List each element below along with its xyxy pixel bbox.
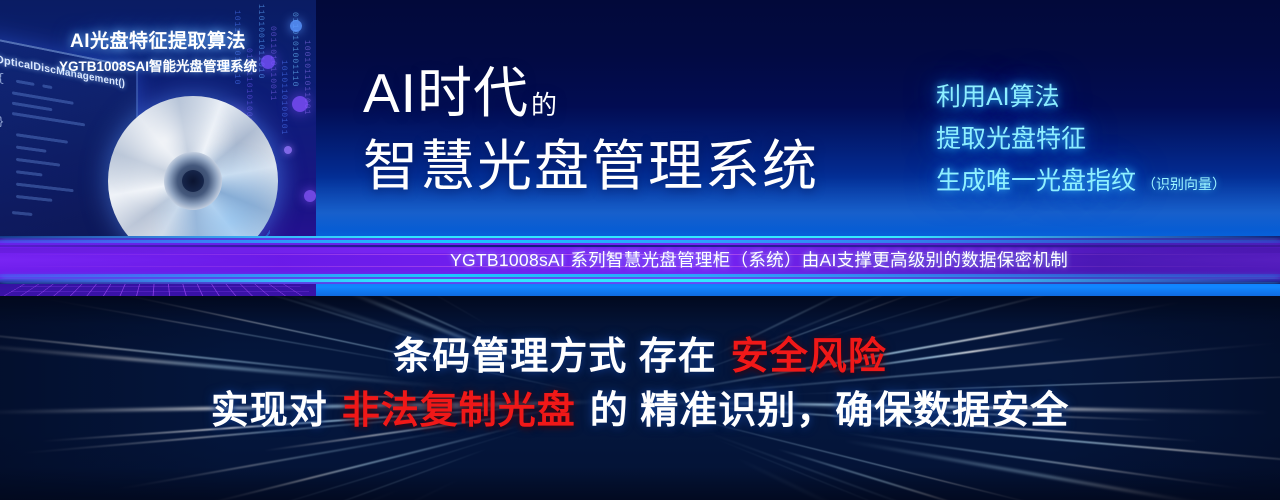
neon-bar-text: YGTB1008sAI 系列智慧光盘管理柜（系统）由AI支撑更高级别的数据保密机…: [450, 236, 1068, 284]
bottom-line-2-part2: 的 精准识别，确保数据安全: [590, 390, 1070, 432]
headline-line-2: 智慧光盘管理系统: [363, 134, 903, 198]
glow-dot: [292, 96, 308, 112]
glow-dot: [284, 146, 292, 154]
bottom-line-2: 实现对非法复制光盘的 精准识别，确保数据安全: [0, 384, 1280, 438]
speed-streak: [842, 439, 1280, 500]
bottom-line-2-highlight: 非法复制光盘: [342, 390, 576, 432]
headline: AI时代的 智慧光盘管理系统: [363, 62, 903, 198]
bottom-line-1-highlight: 安全风险: [731, 336, 887, 378]
feature-item-2-text: 提取光盘特征: [936, 125, 1086, 153]
headline-line-1-main: AI时代: [363, 62, 529, 124]
bottom-message: 条码管理方式 存在安全风险 实现对非法复制光盘的 精准识别，确保数据安全: [0, 330, 1280, 438]
speed-streak: [53, 478, 460, 500]
headline-line-1-suffix: 的: [531, 90, 558, 120]
feature-item-3: 生成唯一光盘指纹（识别向量）: [936, 160, 1276, 205]
bottom-line-1-part1: 条码管理方式 存在: [393, 336, 717, 378]
code-brace-close: }: [0, 116, 4, 130]
headline-line-1: AI时代的: [363, 62, 903, 134]
feature-item-1-text: 利用AI算法: [936, 83, 1060, 111]
speed-streak: [714, 438, 1148, 500]
feature-item-3-note: （识别向量）: [1142, 176, 1226, 192]
promo-banner: 1011001010110010011010100111010010110100…: [0, 0, 1280, 500]
bottom-line-2-part1: 实现对: [211, 390, 328, 432]
feature-item-2: 提取光盘特征: [936, 118, 1276, 160]
left-panel-subtitle: YGTB1008SAI智能光盘管理系统: [0, 55, 316, 75]
bottom-section: 条码管理方式 存在安全风险 实现对非法复制光盘的 精准识别，确保数据安全: [0, 296, 1280, 500]
feature-list: 利用AI算法 提取光盘特征 生成唯一光盘指纹（识别向量）: [936, 76, 1276, 205]
neon-subtitle-bar: YGTB1008sAI 系列智慧光盘管理柜（系统）由AI支撑更高级别的数据保密机…: [0, 236, 1280, 284]
bottom-line-1: 条码管理方式 存在安全风险: [0, 330, 1280, 384]
feature-item-1: 利用AI算法: [936, 76, 1276, 118]
left-panel-title: AI光盘特征提取算法: [0, 26, 316, 53]
binary-rain-column: 1010110100101: [279, 60, 288, 190]
glow-dot: [304, 190, 316, 202]
feature-item-3-text: 生成唯一光盘指纹: [936, 167, 1136, 195]
